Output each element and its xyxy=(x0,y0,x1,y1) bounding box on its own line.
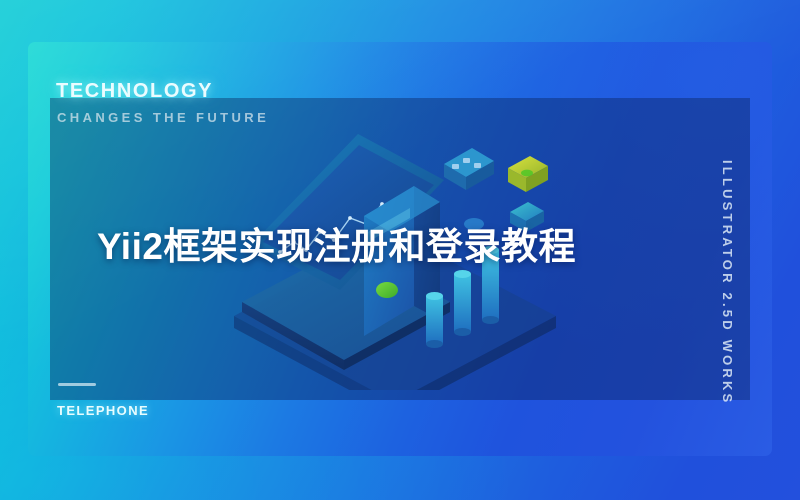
vertical-credit-label: ILLUSTRATOR 2.5D WORKS xyxy=(720,160,735,405)
kicker-subtitle: CHANGES THE FUTURE xyxy=(57,110,269,125)
page-title: Yii2框架实现注册和登录教程 xyxy=(97,216,576,270)
kicker-title: TECHNOLOGY xyxy=(56,80,213,103)
footer-label: TELEPHONE xyxy=(57,403,149,418)
footer-divider xyxy=(58,383,96,386)
banner-root: TECHNOLOGY CHANGES THE FUTURE Yii2框架实现注册… xyxy=(0,0,800,500)
